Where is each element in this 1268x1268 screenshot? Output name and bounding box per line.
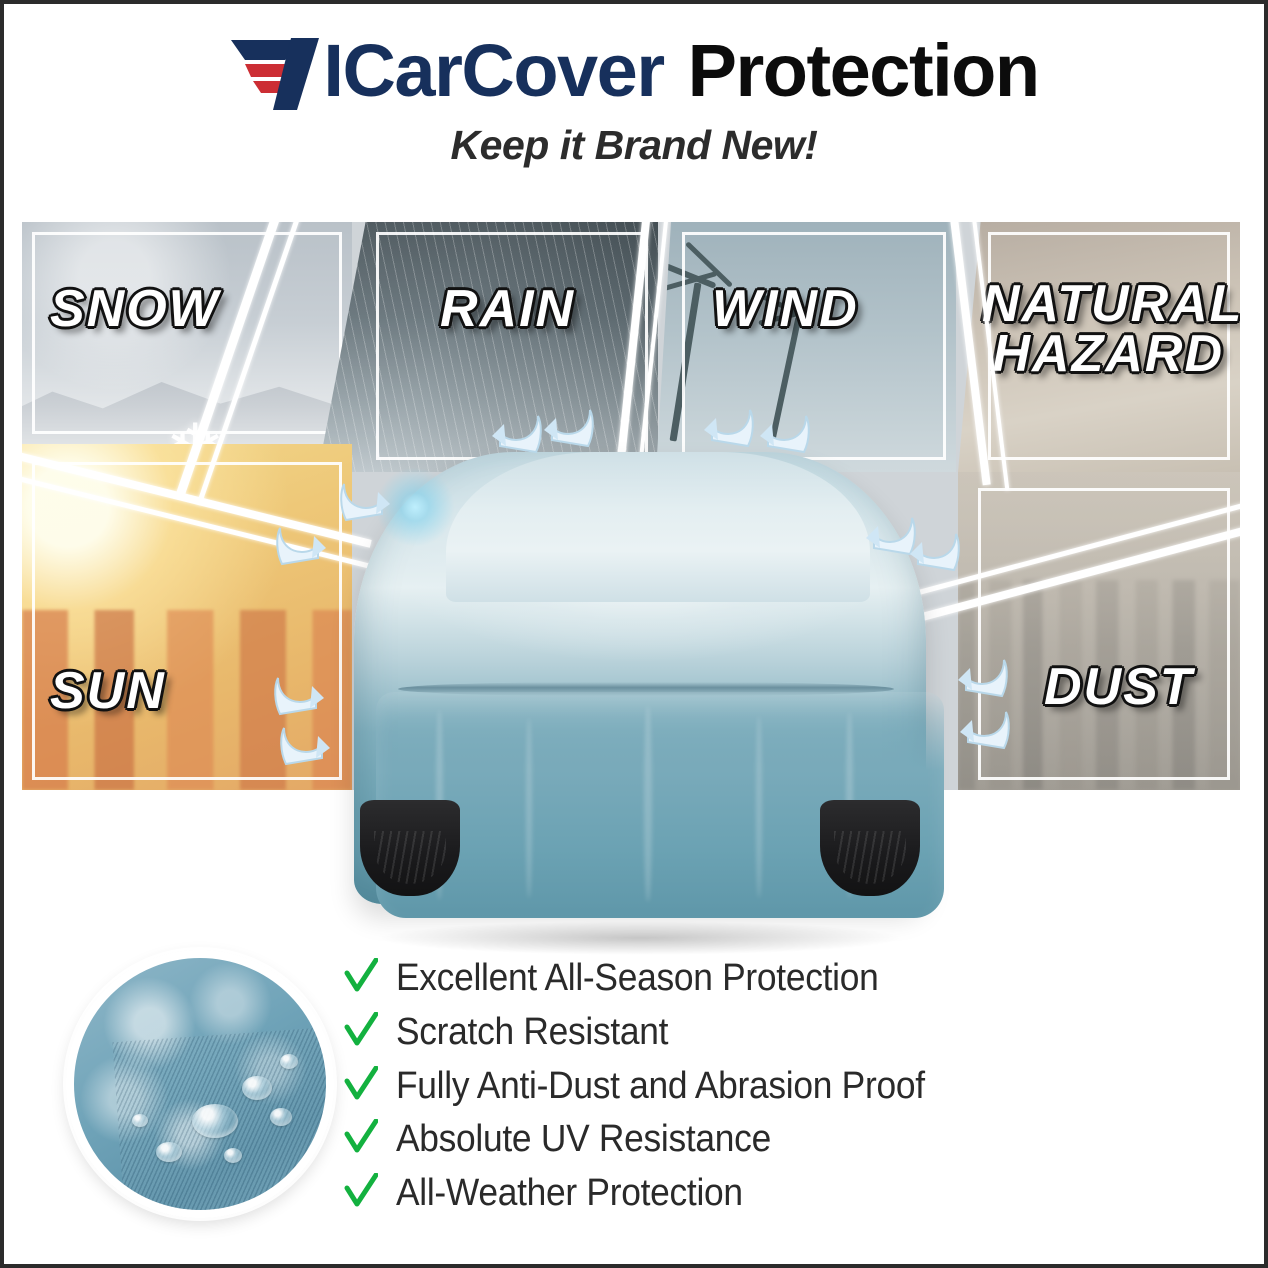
header: ICarCover Protection Keep it Brand New! [4, 30, 1264, 169]
green-checkmark-icon [344, 1119, 378, 1155]
front-right-wheel [820, 800, 920, 896]
feature-label: Absolute UV Resistance [396, 1117, 771, 1162]
tagline: Keep it Brand New! [4, 122, 1264, 169]
feature-label: Fully Anti-Dust and Abrasion Proof [396, 1064, 925, 1109]
water-droplet [132, 1114, 148, 1127]
page-title: Protection [688, 34, 1039, 108]
feature-label: Excellent All-Season Protection [396, 956, 878, 1001]
panel-label-snow: SNOW [50, 284, 220, 335]
panel-label-wind: WIND [712, 284, 859, 335]
feature-label: Scratch Resistant [396, 1010, 668, 1055]
panel-natural-hazard: NATURAL HAZARD [958, 222, 1240, 472]
feature-item: Absolute UV Resistance [344, 1115, 1144, 1162]
rain-streaks [318, 222, 658, 472]
green-checkmark-icon [344, 1012, 378, 1048]
hazard-panel-collage: SNOW ❄ RAIN WIND [22, 222, 1240, 790]
brand-name: ICarCover [323, 34, 663, 108]
green-checkmark-icon [344, 1173, 378, 1209]
panel-outline [682, 232, 946, 460]
product-infographic: ICarCover Protection Keep it Brand New! … [0, 0, 1268, 1268]
panel-label-sun: SUN [50, 666, 166, 717]
feature-item: Scratch Resistant [344, 1008, 1144, 1055]
water-droplet [242, 1076, 272, 1100]
panel-label-dust: DUST [1044, 662, 1194, 713]
panel-wind: WIND [656, 222, 956, 472]
panel-dust: DUST [958, 472, 1240, 790]
feature-item: Fully Anti-Dust and Abrasion Proof [344, 1062, 1144, 1109]
panel-sun: SUN [22, 444, 352, 790]
features-section: Excellent All-Season Protection Scratch … [4, 942, 1264, 1262]
panel-label-natural-hazard: NATURAL HAZARD [982, 280, 1224, 380]
water-droplet [224, 1148, 242, 1163]
water-droplet [192, 1104, 238, 1138]
brand-title-row: ICarCover Protection [4, 30, 1264, 112]
feature-label: All-Weather Protection [396, 1171, 743, 1216]
feature-item: All-Weather Protection [344, 1169, 1144, 1216]
icarcover-wing-logo-icon [229, 34, 321, 112]
panel-label-rain: RAIN [440, 284, 575, 335]
water-droplet [156, 1142, 182, 1162]
water-droplet [270, 1108, 292, 1126]
dust-haze-overlay [958, 472, 1240, 790]
feature-list: Excellent All-Season Protection Scratch … [344, 954, 1144, 1223]
front-left-wheel [360, 800, 460, 896]
green-checkmark-icon [344, 958, 378, 994]
feature-item: Excellent All-Season Protection [344, 954, 1144, 1001]
water-beading-swatch [66, 950, 334, 1218]
water-droplet [280, 1054, 298, 1069]
green-checkmark-icon [344, 1066, 378, 1102]
panel-rain: RAIN [318, 222, 658, 472]
